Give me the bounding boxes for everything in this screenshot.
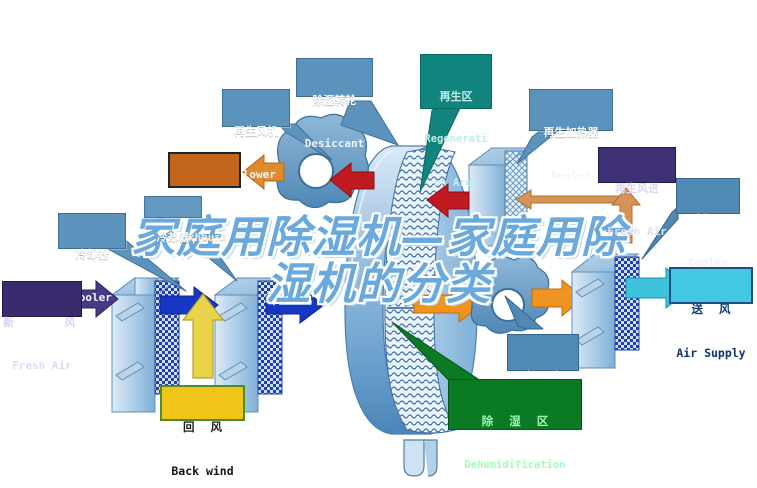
label-back-wind-cn: 回 风	[162, 422, 243, 434]
label-fresh-air-cn: 新 风	[3, 317, 81, 328]
label-regeneration-area-cn: 再生区	[421, 91, 491, 102]
label-regen-fresh-air[interactable]: 再生风进 Fresh Air	[598, 147, 676, 183]
label-cooler-right[interactable]: 冷却器 Cooler	[676, 178, 740, 214]
label-desiccant-cn: 除湿转轮	[297, 95, 372, 106]
cooler-coil-3	[572, 254, 639, 368]
label-regen-fresh-air-cn: 再生风进	[599, 183, 675, 194]
label-dehumidification-district[interactable]: 除 湿 区 Dehumidification District	[448, 379, 582, 430]
label-fresh-air[interactable]: 新 风 Fresh Air	[2, 281, 82, 317]
label-cooler-left-cn: 冷却器	[59, 249, 125, 260]
label-exhaust[interactable]: 再生风出 Exhaust	[168, 152, 241, 188]
label-cooler-left[interactable]: 冷却器 Cooler	[58, 213, 126, 249]
label-dehumidification-district-en1: Dehumidification	[449, 460, 581, 471]
label-regeneration-area-en1: Regenerati	[421, 134, 491, 145]
label-dehum-blower[interactable]: 除湿风机 Blower	[507, 334, 579, 371]
label-cooler-mid[interactable]: 冷却器	[144, 196, 202, 218]
label-regen-blower[interactable]: 再生风机 Blower	[222, 89, 290, 127]
label-desiccant[interactable]: 除湿转轮 Desiccant	[296, 58, 373, 97]
label-cooler-mid-cn: 冷却器	[145, 232, 201, 243]
label-air-supply-cn: 送 风	[671, 304, 751, 316]
label-fresh-air-en: Fresh Air	[3, 360, 81, 371]
label-back-wind-en: Back wind	[162, 466, 243, 478]
drain-pan	[404, 440, 437, 476]
label-regeneration-area-en2: on Area	[421, 178, 491, 189]
label-regeneration-area[interactable]: 再生区 Regenerati on Area	[420, 54, 492, 109]
label-regen-fresh-air-en: Fresh Air	[599, 226, 675, 237]
label-regen-blower-cn: 再生风机	[223, 126, 289, 137]
label-desiccant-en: Desiccant	[297, 138, 372, 149]
label-regen-heater-cn: 再生加热器	[530, 127, 612, 138]
label-cooler-right-cn: 冷却器	[677, 214, 739, 225]
label-back-wind[interactable]: 回 风 Back wind	[160, 385, 245, 421]
dehumidifier-diagram: XT	[0, 0, 757, 488]
label-air-supply-en: Air Supply	[671, 348, 751, 360]
label-air-supply[interactable]: 送 风 Air Supply	[669, 267, 753, 304]
label-regen-heater[interactable]: 再生加热器 heater	[529, 89, 613, 131]
label-dehumidification-district-cn: 除 湿 区	[449, 416, 581, 428]
